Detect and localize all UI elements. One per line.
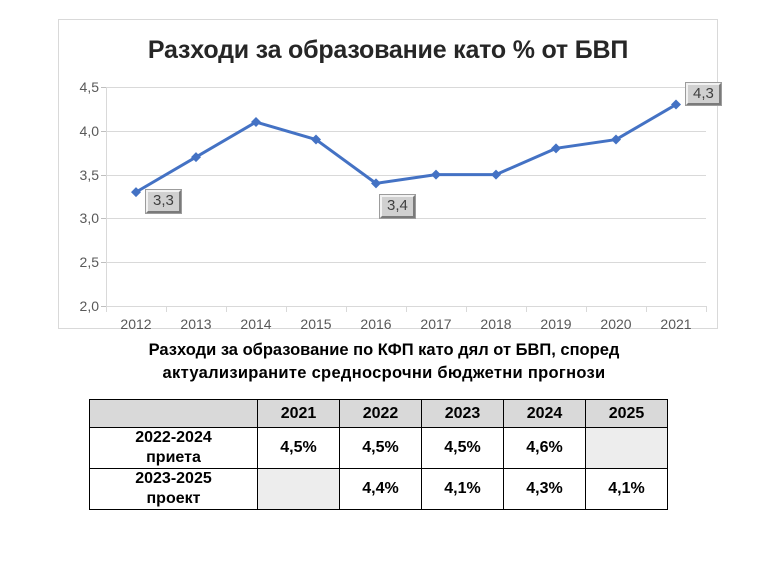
x-axis-tick-label: 2021 [660,316,691,332]
table-cell: 4,1% [586,469,668,510]
data-point-marker [491,170,501,180]
table-col-header-2021: 2021 [258,400,340,428]
table-header-row: 2021 2022 2023 2024 2025 [90,400,668,428]
x-axis-tick-mark [586,306,587,312]
table-cell: 4,5% [340,428,422,469]
y-axis-tick-label: 2,0 [80,298,99,314]
x-axis-tick-label: 2019 [540,316,571,332]
table-cell-empty [258,469,340,510]
table-col-header-2023: 2023 [422,400,504,428]
table-row: 2022-2024 приета 4,5% 4,5% 4,5% 4,6% [90,428,668,469]
x-axis-tick-label: 2017 [420,316,451,332]
row-label-period: 2022-2024 [90,428,257,448]
table-cell: 4,4% [340,469,422,510]
x-axis-tick-mark [526,306,527,312]
y-axis-tick-label: 2,5 [80,254,99,270]
x-axis-tick-label: 2018 [480,316,511,332]
chart-plot-area: 2,02,53,03,54,04,5 201220132014201520162… [106,87,706,306]
row-label-status: приета [90,448,257,468]
chart-title: Разходи за образование като % от БВП [59,36,717,65]
x-axis-tick-label: 2013 [180,316,211,332]
table-caption-line-1: Разходи за образование по КФП като дял о… [149,341,620,359]
x-axis-tick-mark [646,306,647,312]
x-axis-tick-mark [346,306,347,312]
table-caption: Разходи за образование по КФП като дял о… [0,339,768,385]
table-corner-cell [90,400,258,428]
data-point-marker [431,170,441,180]
data-point-marker [551,143,561,153]
y-axis-tick-label: 3,5 [80,167,99,183]
x-axis-tick-label: 2015 [300,316,331,332]
table-cell-empty [586,428,668,469]
table-row: 2023-2025 проект 4,4% 4,1% 4,3% 4,1% [90,469,668,510]
x-axis-tick-label: 2014 [240,316,271,332]
table-cell: 4,6% [504,428,586,469]
y-axis-tick-label: 4,5 [80,79,99,95]
chart-data-label: 3,4 [380,195,415,218]
table-row-label-draft: 2023-2025 проект [90,469,258,510]
table-cell: 4,1% [422,469,504,510]
x-axis-tick-label: 2016 [360,316,391,332]
row-label-period: 2023-2025 [90,469,257,489]
x-axis-tick-label: 2012 [120,316,151,332]
table-cell: 4,5% [422,428,504,469]
table-row-label-accepted: 2022-2024 приета [90,428,258,469]
chart-data-label: 4,3 [686,83,721,106]
table-col-header-2024: 2024 [504,400,586,428]
x-axis-tick-mark [406,306,407,312]
x-axis-tick-mark [466,306,467,312]
x-axis-tick-mark [706,306,707,312]
table-col-header-2022: 2022 [340,400,422,428]
x-axis-tick-mark [286,306,287,312]
x-axis-tick-mark [226,306,227,312]
x-axis-tick-mark [106,306,107,312]
x-axis-tick-mark [166,306,167,312]
table-col-header-2025: 2025 [586,400,668,428]
x-axis-tick-label: 2020 [600,316,631,332]
table-cell: 4,5% [258,428,340,469]
table-caption-line-2: актуализираните средносрочни бюджетни пр… [163,364,606,382]
row-label-status: проект [90,489,257,509]
budget-forecast-table: 2021 2022 2023 2024 2025 2022-2024 приет… [89,399,668,510]
y-axis-tick-label: 3,0 [80,210,99,226]
chart-data-label: 3,3 [146,190,181,213]
chart-container: Разходи за образование като % от БВП 2,0… [58,19,718,329]
table-cell: 4,3% [504,469,586,510]
y-axis-tick-label: 4,0 [80,123,99,139]
